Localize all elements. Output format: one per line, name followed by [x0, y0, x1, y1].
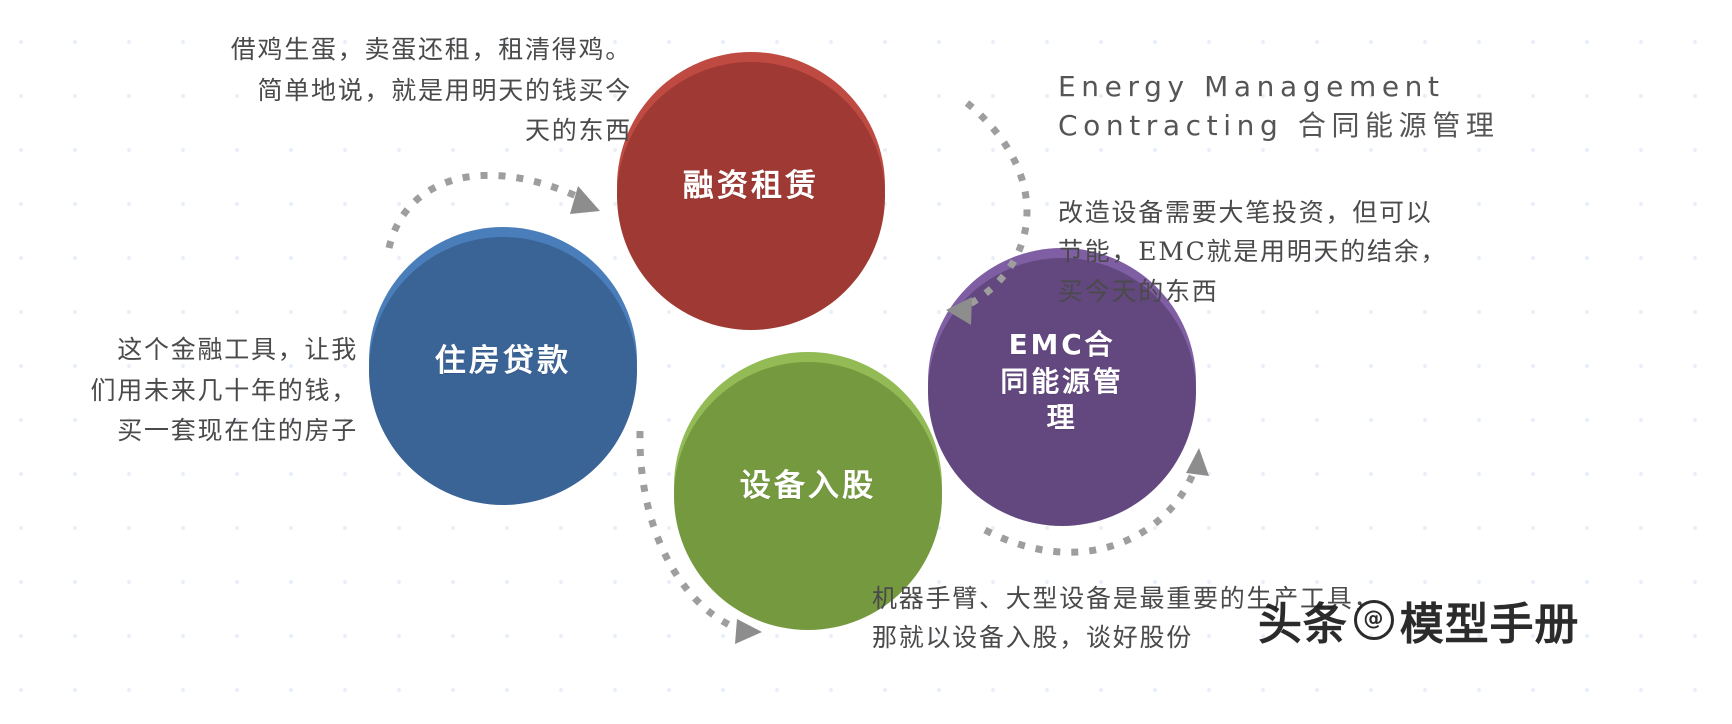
- note-emc-english: Energy Management Contracting 合同能源管理: [1058, 67, 1718, 147]
- bubble-financial-lease[interactable]: 融资租赁: [617, 52, 885, 320]
- arrow-blue-to-green-head: [735, 619, 762, 644]
- note-financial-lease: 借鸡生蛋，卖蛋还租，租清得鸡。 简单地说，就是用明天的钱买今 天的东西: [84, 30, 632, 152]
- watermark-prefix: 头条: [1258, 588, 1348, 652]
- bubble-housing-loan[interactable]: 住房贷款: [369, 227, 637, 495]
- note-housing-loan: 这个金融工具，让我 们用未来几十年的钱， 买一套现在住的房子: [8, 330, 358, 452]
- note-emc-chinese: 改造设备需要大笔投资，但可以 节能，EMC就是用明天的结余， 买今天的东西: [1058, 193, 1718, 312]
- arrow-green-to-purple-head: [1186, 448, 1209, 476]
- watermark-name: 模型手册: [1400, 588, 1580, 652]
- infographic-canvas: 住房贷款 设备入股 EMC合 同能源管 理 融资租赁 借鸡生蛋，卖蛋还租，租清得…: [0, 0, 1732, 724]
- note-emc: Energy Management Contracting 合同能源管理 改造设…: [1058, 26, 1718, 352]
- bubble-label: 住房贷款: [429, 341, 577, 381]
- arrow-blue-to-red-head: [570, 186, 600, 214]
- bubble-label: 设备入股: [734, 466, 882, 506]
- watermark: 头条 @ 模型手册: [1258, 588, 1579, 652]
- bubble-label: 融资租赁: [677, 166, 825, 206]
- watermark-at-icon: @: [1354, 600, 1394, 640]
